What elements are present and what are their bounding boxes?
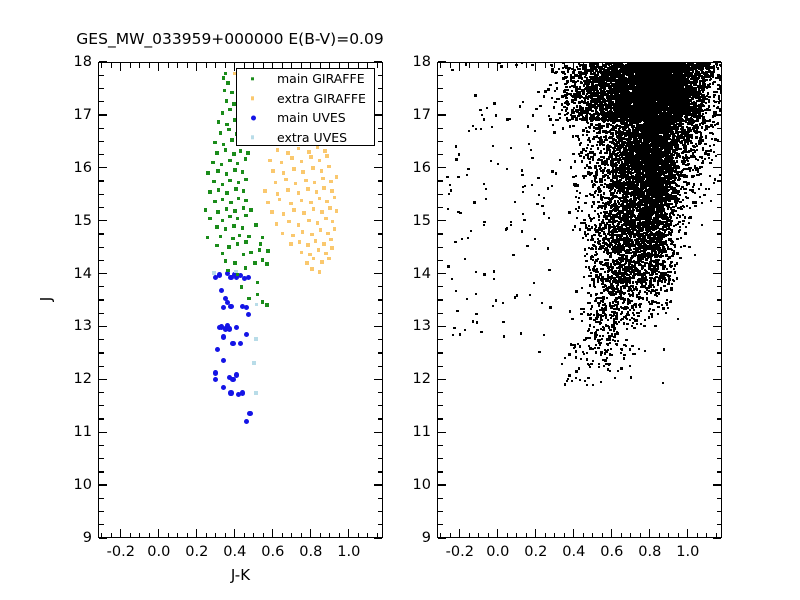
y-axis-minor-tick xyxy=(99,233,104,234)
data-point xyxy=(222,143,226,147)
x-axis-tick xyxy=(272,529,273,537)
y-axis-tick-label: 10 xyxy=(50,477,92,493)
data-point xyxy=(228,215,232,219)
y-axis-tick-label: 15 xyxy=(50,213,92,229)
data-point xyxy=(607,325,609,327)
data-point xyxy=(684,216,686,218)
data-point xyxy=(575,175,577,177)
data-point xyxy=(609,353,611,355)
x-axis-minor-tick xyxy=(320,63,321,68)
data-point xyxy=(313,181,317,185)
data-point xyxy=(579,192,581,194)
data-point xyxy=(589,161,591,163)
figure-root: GES_MW_033959+000000 E(B-V)=0.09 9101112… xyxy=(0,0,800,600)
data-point xyxy=(572,125,574,127)
data-point xyxy=(587,239,589,241)
data-point xyxy=(226,81,230,85)
data-point xyxy=(682,123,684,125)
y-axis-tick xyxy=(99,273,107,274)
y-axis-minor-tick xyxy=(378,299,383,300)
data-point xyxy=(691,189,693,191)
data-point xyxy=(713,105,715,107)
data-point xyxy=(606,357,608,359)
data-point xyxy=(241,226,245,230)
data-point xyxy=(318,270,322,274)
y-axis-minor-tick xyxy=(378,339,383,340)
data-point xyxy=(595,251,597,253)
data-point xyxy=(603,233,605,235)
data-point xyxy=(626,328,628,330)
x-axis-minor-tick xyxy=(367,533,368,538)
data-point xyxy=(259,242,263,246)
x-axis-minor-tick xyxy=(263,63,264,68)
data-point xyxy=(304,179,308,183)
data-point xyxy=(599,321,601,323)
data-point xyxy=(206,171,210,175)
data-point xyxy=(631,305,633,307)
data-point xyxy=(603,240,605,242)
data-point xyxy=(278,198,282,202)
data-point xyxy=(580,313,582,315)
data-point xyxy=(582,351,584,353)
data-point xyxy=(294,182,298,186)
data-point xyxy=(598,304,600,306)
data-point xyxy=(709,145,711,147)
data-point xyxy=(636,283,638,285)
y-axis-minor-tick xyxy=(99,194,104,195)
y-axis-tick xyxy=(374,484,382,485)
data-point xyxy=(679,226,681,228)
y-axis-tick xyxy=(374,537,382,538)
x-axis-minor-tick xyxy=(367,63,368,68)
legend-label: extra GIRAFFE xyxy=(277,91,366,106)
data-point xyxy=(579,155,581,157)
x-axis-minor-tick xyxy=(215,63,216,68)
data-point xyxy=(706,79,708,81)
data-point xyxy=(604,179,606,181)
y-axis-minor-tick xyxy=(99,141,104,142)
data-point xyxy=(212,271,216,275)
legend-item-extra-uves[interactable]: extra UVES xyxy=(237,128,374,148)
data-point xyxy=(244,332,249,337)
data-point xyxy=(648,310,650,312)
data-point xyxy=(292,167,296,171)
data-point xyxy=(206,236,210,240)
data-point xyxy=(607,177,609,179)
data-point xyxy=(244,157,248,161)
data-point xyxy=(638,255,640,257)
data-point xyxy=(623,301,625,303)
data-point xyxy=(573,183,575,185)
data-point xyxy=(587,233,589,235)
data-point xyxy=(244,214,248,218)
data-point xyxy=(578,153,580,155)
data-point xyxy=(620,352,622,354)
y-axis-minor-tick xyxy=(99,313,104,314)
legend-item-main-giraffe[interactable]: main GIRAFFE xyxy=(237,69,374,89)
x-axis-minor-tick xyxy=(206,533,207,538)
data-point xyxy=(593,196,595,198)
data-point xyxy=(292,208,296,212)
data-point xyxy=(640,310,642,312)
data-point xyxy=(318,159,322,163)
data-point xyxy=(224,72,228,76)
y-axis-tick xyxy=(99,167,107,168)
x-axis-minor-tick xyxy=(215,533,216,538)
y-axis-minor-tick xyxy=(99,471,104,472)
data-point xyxy=(236,273,240,277)
data-point xyxy=(268,159,272,163)
y-axis-minor-tick xyxy=(99,247,104,248)
data-point xyxy=(602,335,604,337)
data-point xyxy=(208,217,212,221)
data-point xyxy=(601,127,603,129)
data-point xyxy=(330,246,334,250)
data-point xyxy=(552,124,554,126)
data-point xyxy=(233,261,237,265)
data-point xyxy=(302,211,306,215)
data-point xyxy=(591,226,593,228)
y-axis-minor-tick xyxy=(378,458,383,459)
data-point xyxy=(588,126,590,128)
data-point xyxy=(600,292,602,294)
legend-item-extra-giraffe[interactable]: extra GIRAFFE xyxy=(237,89,374,109)
legend-item-main-uves[interactable]: main UVES xyxy=(237,108,374,128)
data-point xyxy=(244,266,248,270)
x-axis-minor-tick xyxy=(139,63,140,68)
y-axis-minor-tick xyxy=(99,75,104,76)
data-point xyxy=(612,135,614,137)
x-axis-minor-tick xyxy=(301,63,302,68)
data-point xyxy=(230,138,234,142)
data-point xyxy=(597,313,599,315)
data-point xyxy=(307,150,311,154)
y-axis-tick xyxy=(374,273,382,274)
data-point xyxy=(287,220,291,224)
data-point xyxy=(611,354,613,356)
data-point xyxy=(280,161,284,165)
data-point xyxy=(213,200,217,204)
data-point xyxy=(629,309,631,311)
data-point xyxy=(584,248,586,250)
y-axis-minor-tick xyxy=(378,286,383,287)
x-axis-tick-label: 0.6 xyxy=(261,544,284,560)
data-point xyxy=(244,305,249,310)
data-point xyxy=(234,372,239,377)
data-point xyxy=(623,307,625,309)
data-point xyxy=(230,341,235,346)
data-point xyxy=(240,285,244,289)
data-point xyxy=(233,168,237,172)
data-point xyxy=(263,189,267,193)
data-point xyxy=(589,324,591,326)
data-point xyxy=(329,238,333,242)
data-point xyxy=(694,254,696,256)
data-point xyxy=(237,197,241,201)
data-point xyxy=(712,115,714,117)
data-point xyxy=(708,157,710,159)
data-point xyxy=(708,105,710,107)
data-point xyxy=(698,188,700,190)
x-axis-minor-tick xyxy=(282,63,283,68)
data-point xyxy=(684,188,686,190)
data-point xyxy=(261,300,265,304)
data-point xyxy=(297,191,301,195)
x-axis-minor-tick xyxy=(244,533,245,538)
data-point xyxy=(593,234,595,236)
data-point xyxy=(583,276,585,278)
data-point xyxy=(690,150,692,152)
data-point xyxy=(300,199,304,203)
data-point xyxy=(325,154,329,158)
y-axis-label: J xyxy=(37,259,55,339)
data-point xyxy=(607,332,609,334)
legend-marker-wrap xyxy=(237,89,277,109)
data-point xyxy=(676,238,678,240)
legend-label: main UVES xyxy=(277,110,346,125)
data-point xyxy=(238,234,242,238)
data-point xyxy=(317,248,321,252)
data-point xyxy=(701,224,703,226)
data-point xyxy=(680,171,682,173)
data-point xyxy=(601,198,603,200)
data-point xyxy=(254,223,258,227)
x-axis-minor-tick xyxy=(377,533,378,538)
data-point xyxy=(697,159,699,161)
data-point xyxy=(213,377,218,382)
data-point xyxy=(331,220,335,224)
x-axis-minor-tick xyxy=(301,533,302,538)
data-point xyxy=(228,304,233,309)
x-axis-minor-tick xyxy=(253,533,254,538)
x-axis-minor-tick xyxy=(329,63,330,68)
data-point xyxy=(327,165,331,169)
data-point xyxy=(324,252,328,256)
data-point xyxy=(217,272,222,277)
y-axis-tick xyxy=(374,220,382,221)
data-point xyxy=(593,280,595,282)
data-point xyxy=(274,181,278,185)
y-axis-minor-tick xyxy=(378,247,383,248)
data-point xyxy=(606,152,608,154)
data-point xyxy=(603,156,605,158)
x-axis-minor-tick xyxy=(168,63,169,68)
data-point xyxy=(276,148,280,152)
data-point xyxy=(221,385,226,390)
y-axis-minor-tick xyxy=(378,405,383,406)
data-point xyxy=(580,222,582,224)
x-axis-minor-tick xyxy=(149,533,150,538)
y-axis-tick xyxy=(99,432,107,433)
data-point xyxy=(575,208,577,210)
data-point xyxy=(610,192,612,194)
data-point xyxy=(256,293,260,297)
data-point xyxy=(603,365,605,367)
y-axis-minor-tick xyxy=(378,180,383,181)
data-point xyxy=(613,336,615,338)
data-point xyxy=(312,257,316,261)
legend-label: extra UVES xyxy=(277,130,347,145)
x-axis-minor-tick xyxy=(101,533,102,538)
data-point xyxy=(232,152,236,156)
data-point xyxy=(221,334,226,339)
data-point xyxy=(603,186,605,188)
x-axis-minor-tick xyxy=(177,533,178,538)
data-point xyxy=(213,370,218,375)
data-point xyxy=(707,153,709,155)
legend-marker-wrap xyxy=(237,128,277,148)
data-point xyxy=(215,225,219,229)
x-axis-tick xyxy=(120,63,121,71)
data-point xyxy=(322,242,326,246)
data-point xyxy=(224,259,228,263)
y-axis-tick-label: 13 xyxy=(50,318,92,334)
y-axis-tick xyxy=(99,484,107,485)
data-point xyxy=(254,337,258,341)
data-point xyxy=(586,358,588,360)
data-point xyxy=(310,267,314,271)
data-point xyxy=(712,121,714,123)
data-point xyxy=(608,338,610,340)
data-point xyxy=(577,210,579,212)
data-point xyxy=(310,233,314,237)
data-point xyxy=(244,178,248,182)
y-axis-tick-label: 12 xyxy=(50,371,92,387)
x-axis-tick-label: -0.2 xyxy=(107,544,135,560)
data-point xyxy=(227,375,232,380)
data-point xyxy=(249,251,253,255)
data-point xyxy=(571,318,573,320)
data-point xyxy=(309,155,313,159)
data-point xyxy=(226,269,230,273)
data-point xyxy=(330,189,334,193)
data-point xyxy=(598,158,600,160)
data-point xyxy=(320,169,324,173)
data-point xyxy=(704,143,706,145)
data-point xyxy=(610,317,612,319)
data-point xyxy=(598,219,600,221)
x-axis-minor-tick xyxy=(187,63,188,68)
data-point xyxy=(224,148,228,152)
data-point xyxy=(328,206,332,210)
data-point xyxy=(604,183,606,185)
data-point xyxy=(320,260,324,264)
data-point xyxy=(247,235,251,239)
data-point xyxy=(637,315,639,317)
data-point xyxy=(713,182,715,184)
data-point xyxy=(569,310,571,312)
data-point xyxy=(709,162,711,164)
data-point xyxy=(221,305,226,310)
data-point xyxy=(275,222,279,226)
y-axis-minor-tick xyxy=(378,313,383,314)
data-point xyxy=(703,194,705,196)
data-point xyxy=(588,166,590,168)
data-point xyxy=(579,345,581,347)
y-axis-tick xyxy=(99,220,107,221)
data-point xyxy=(679,257,681,259)
x-axis-tick xyxy=(196,63,197,71)
data-point xyxy=(582,134,584,136)
plot-panel-right xyxy=(437,62,722,538)
y-axis-tick xyxy=(374,167,382,168)
y-axis-minor-tick xyxy=(99,180,104,181)
data-point xyxy=(286,151,290,155)
data-point xyxy=(618,321,620,323)
data-point xyxy=(236,242,240,246)
y-axis-minor-tick xyxy=(378,88,383,89)
data-point xyxy=(719,79,721,81)
data-point xyxy=(600,212,602,214)
data-point xyxy=(306,187,310,191)
data-point xyxy=(606,343,608,345)
y-axis-minor-tick xyxy=(99,207,104,208)
y-axis-minor-tick xyxy=(99,458,104,459)
data-point xyxy=(219,235,223,239)
data-point xyxy=(572,229,574,231)
data-point xyxy=(689,122,691,124)
data-point xyxy=(234,325,239,330)
data-point xyxy=(298,240,302,244)
x-axis-tick xyxy=(310,529,311,537)
data-point xyxy=(687,141,689,143)
y-axis-minor-tick xyxy=(99,101,104,102)
data-point xyxy=(677,223,679,225)
data-point xyxy=(225,99,229,103)
y-axis-tick-label: 11 xyxy=(50,424,92,440)
x-axis-tick-label: 0.2 xyxy=(185,544,208,560)
data-point xyxy=(220,163,224,167)
x-axis-tick-label: 0.0 xyxy=(147,544,170,560)
y-axis-minor-tick xyxy=(99,405,104,406)
y-axis-tick-label: 9 xyxy=(50,530,92,546)
data-point xyxy=(286,188,290,192)
legend-marker-wrap xyxy=(237,69,277,89)
y-axis-minor-tick xyxy=(99,128,104,129)
data-point xyxy=(258,248,262,252)
data-point xyxy=(680,237,682,239)
data-point xyxy=(694,192,696,194)
data-point xyxy=(321,177,325,181)
x-axis-minor-tick xyxy=(130,63,131,68)
data-point xyxy=(604,207,606,209)
x-axis-minor-tick xyxy=(291,533,292,538)
data-point xyxy=(716,123,718,125)
data-point xyxy=(265,262,269,266)
data-point xyxy=(600,184,602,186)
data-point xyxy=(586,134,588,136)
data-point xyxy=(682,220,684,222)
data-point xyxy=(682,174,684,176)
data-point xyxy=(249,208,253,212)
data-point xyxy=(688,222,690,224)
data-point xyxy=(608,148,610,150)
data-point xyxy=(576,217,578,219)
data-point xyxy=(314,239,318,243)
data-point xyxy=(625,339,627,341)
x-axis-minor-tick xyxy=(149,63,150,68)
data-point xyxy=(333,196,337,200)
x-axis-tick xyxy=(158,63,159,71)
data-point xyxy=(242,253,246,257)
y-axis-minor-tick xyxy=(378,511,383,512)
y-axis-minor-tick xyxy=(99,299,104,300)
legend-marker-wrap xyxy=(237,108,277,128)
data-point xyxy=(592,158,594,160)
y-axis-tick-label: 16 xyxy=(50,160,92,176)
data-point xyxy=(651,315,653,317)
data-point xyxy=(291,234,295,238)
